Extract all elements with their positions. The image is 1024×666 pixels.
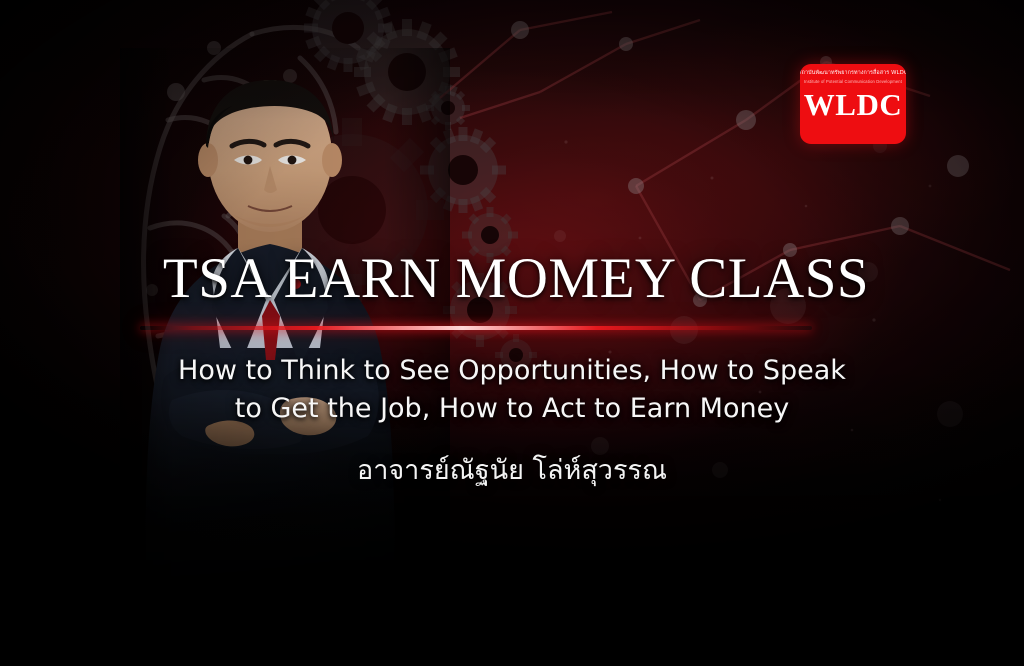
dust-specks [485,140,942,501]
speaker-name: อาจารย์ณัฐนัย โล่ห์สุวรรณ [0,452,1024,490]
subtitle: How to Think to See Opportunities, How t… [0,352,1024,428]
subtitle-line-1: How to Think to See Opportunities, How t… [0,352,1024,390]
wldc-logo[interactable]: สถาบันพัฒนาทรัพยากรทางการสื่อสาร WLDC In… [800,64,906,144]
subtitle-line-2: to Get the Job, How to Act to Earn Money [0,390,1024,428]
logo-thai-text: สถาบันพัฒนาทรัพยากรทางการสื่อสาร WLDC [800,70,906,77]
logo-wordmark: WLDC [804,89,902,120]
logo-english-text: Institute of Potential Communication Dev… [804,79,902,84]
promo-banner: สถาบันพัฒนาทรัพยากรทางการสื่อสาร WLDC In… [0,0,1024,666]
title-divider [140,326,812,330]
page-title: TSA EARN MOMEY CLASS [0,250,1024,307]
